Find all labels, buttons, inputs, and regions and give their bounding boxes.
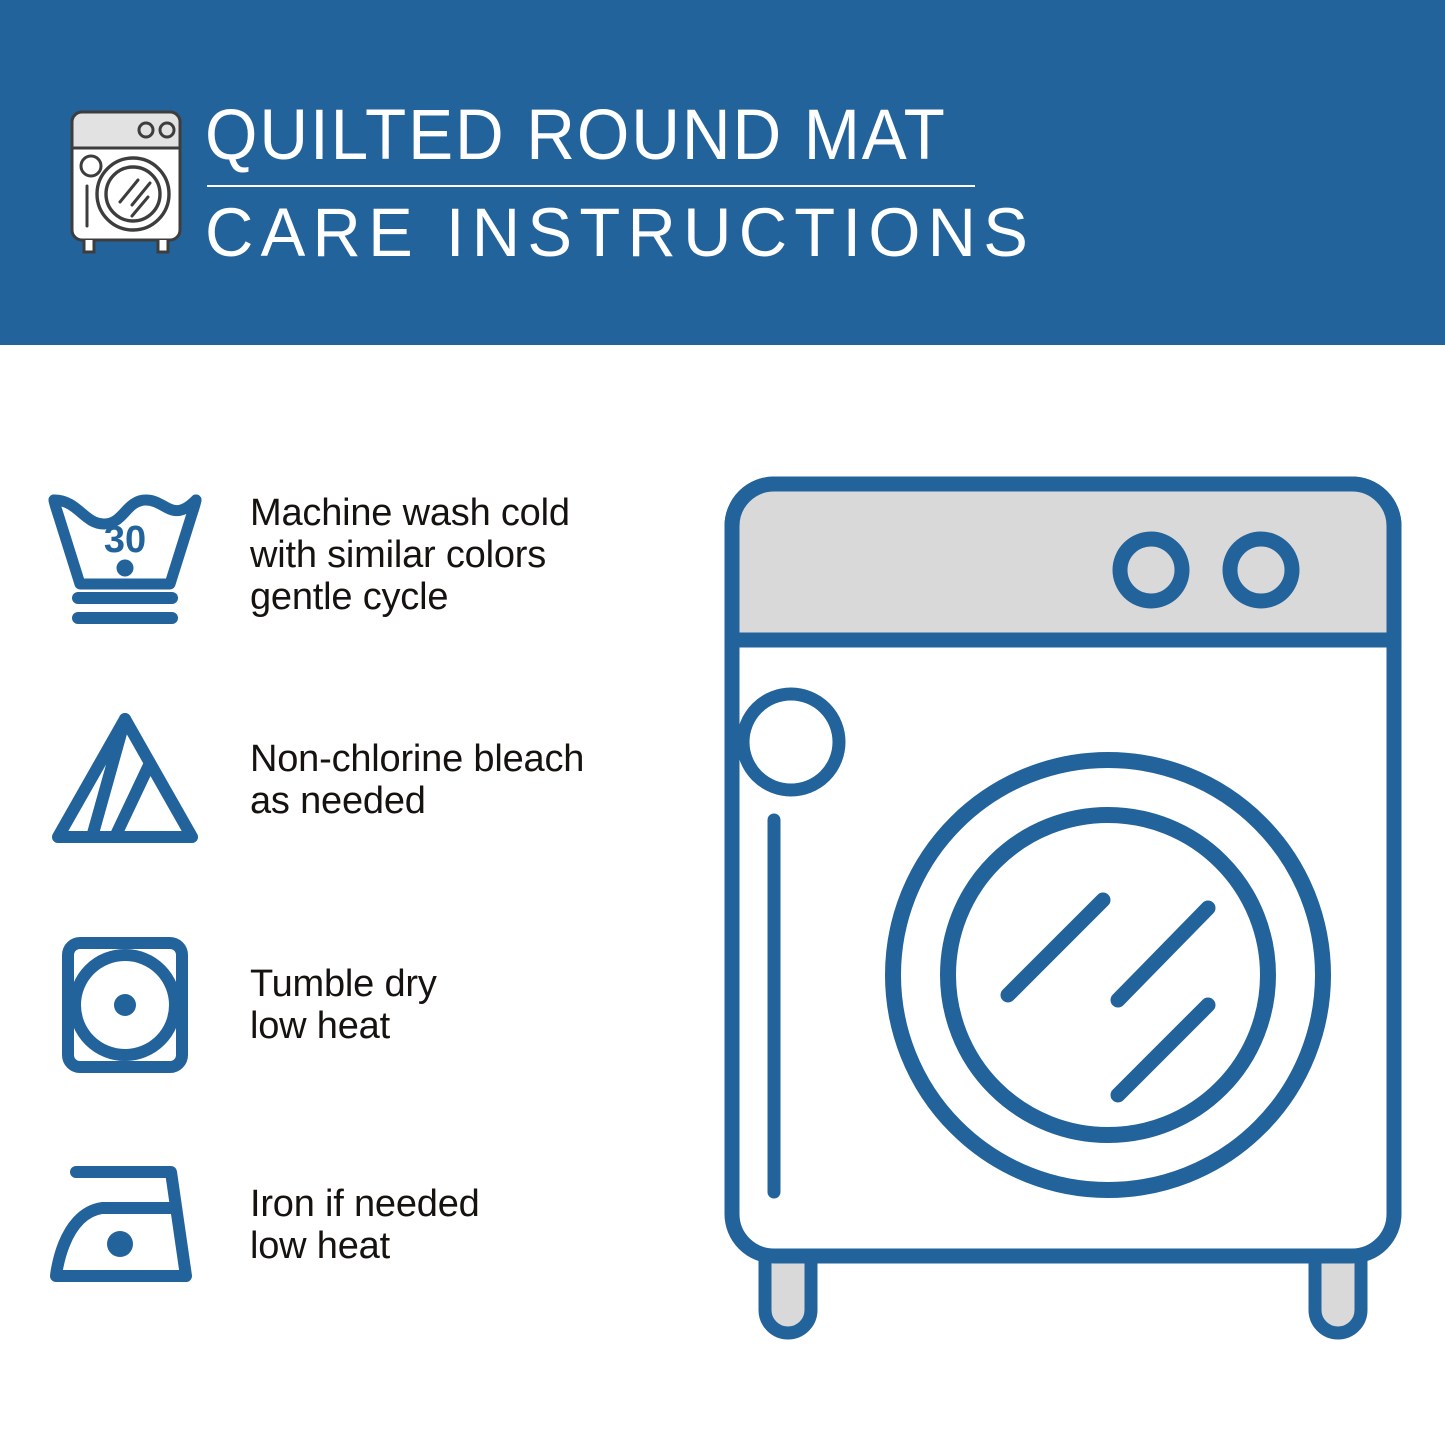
care-row-bleach: Non-chlorine bleach as needed [0, 705, 700, 855]
page-subtitle: CARE INSTRUCTIONS [205, 196, 981, 270]
care-row-iron: Iron if needed low heat [0, 1150, 700, 1300]
washing-machine-icon [62, 104, 192, 256]
care-label-machine-wash: Machine wash cold with similar colors ge… [250, 492, 700, 618]
care-label-bleach: Non-chlorine bleach as needed [250, 738, 700, 822]
wash-tub-30-icon: 30 [0, 480, 250, 630]
care-instructions-page: QUILTED ROUND MAT CARE INSTRUCTIONS 30 [0, 0, 1445, 1445]
care-row-tumble-dry: Tumble dry low heat [0, 930, 700, 1080]
page-title: QUILTED ROUND MAT [205, 98, 965, 174]
bleach-triangle-icon [0, 705, 250, 855]
header-banner: QUILTED ROUND MAT CARE INSTRUCTIONS [0, 0, 1445, 345]
title-divider [207, 185, 975, 187]
care-row-machine-wash: 30 Machine wash cold with similar colors… [0, 480, 700, 630]
tumble-dry-icon [0, 930, 250, 1080]
wash-temp-value: 30 [104, 519, 146, 561]
iron-icon [0, 1150, 250, 1300]
washing-machine-illustration [718, 470, 1408, 1370]
care-label-iron: Iron if needed low heat [250, 1183, 700, 1267]
header-text-block: QUILTED ROUND MAT CARE INSTRUCTIONS [205, 98, 1005, 270]
care-label-tumble-dry: Tumble dry low heat [250, 963, 700, 1047]
